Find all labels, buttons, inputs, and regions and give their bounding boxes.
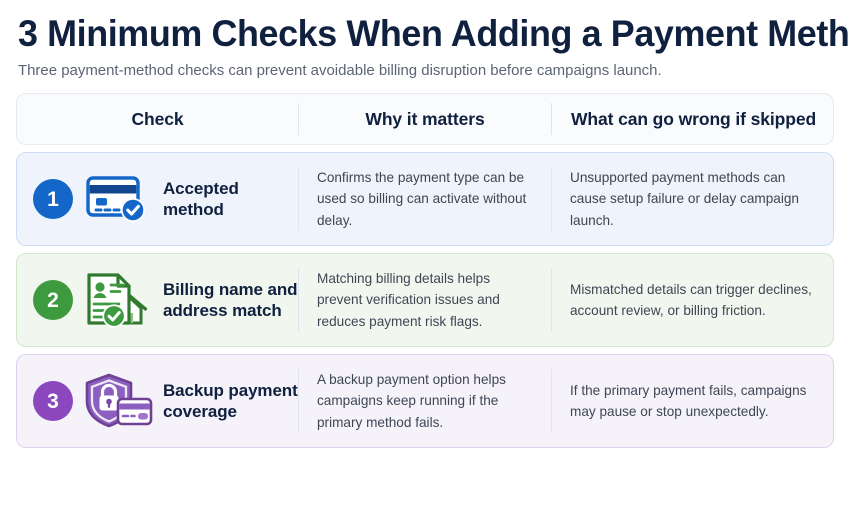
column-header-what-can-go-wrong: What can go wrong if skipped: [552, 109, 835, 130]
table-header-row: Check Why it matters What can go wrong i…: [16, 93, 834, 145]
check-label: Billing name and address match: [163, 279, 298, 321]
risk-cell: Mismatched details can trigger declines,…: [552, 254, 835, 346]
document-person-house-check-icon: [79, 271, 157, 329]
risk-text: Unsupported payment methods can cause se…: [570, 167, 815, 232]
check-cell: 1: [17, 153, 298, 245]
check-cell: 3: [17, 355, 298, 447]
risk-text: If the primary payment fails, campaigns …: [570, 380, 815, 423]
risk-cell: If the primary payment fails, campaigns …: [552, 355, 835, 447]
risk-cell: Unsupported payment methods can cause se…: [552, 153, 835, 245]
why-it-matters-cell: Confirms the payment type can be used so…: [299, 153, 551, 245]
step-number-badge: 2: [33, 280, 73, 320]
infographic-page: 3 Minimum Checks When Adding a Payment M…: [0, 0, 850, 516]
column-header-why-it-matters: Why it matters: [299, 109, 551, 130]
check-label: Backup payment coverage: [163, 380, 298, 422]
checks-table: Check Why it matters What can go wrong i…: [16, 93, 834, 448]
shield-lock-card-icon: [79, 372, 157, 430]
check-label: Accepted method: [163, 178, 298, 220]
why-it-matters-text: A backup payment option helps campaigns …: [317, 369, 531, 434]
page-title: 3 Minimum Checks When Adding a Payment M…: [16, 0, 809, 56]
column-header-check: Check: [17, 109, 298, 130]
why-it-matters-cell: A backup payment option helps campaigns …: [299, 355, 551, 447]
step-number-badge: 3: [33, 381, 73, 421]
why-it-matters-cell: Matching billing details helps prevent v…: [299, 254, 551, 346]
step-number-badge: 1: [33, 179, 73, 219]
why-it-matters-text: Confirms the payment type can be used so…: [317, 167, 531, 232]
table-row: 2: [16, 253, 834, 347]
table-row: 3: [16, 354, 834, 448]
page-subtitle: Three payment-method checks can prevent …: [16, 56, 822, 81]
credit-card-check-icon: [79, 173, 157, 225]
why-it-matters-text: Matching billing details helps prevent v…: [317, 268, 531, 333]
table-row: 1: [16, 152, 834, 246]
check-cell: 2: [17, 254, 298, 346]
risk-text: Mismatched details can trigger declines,…: [570, 279, 815, 322]
